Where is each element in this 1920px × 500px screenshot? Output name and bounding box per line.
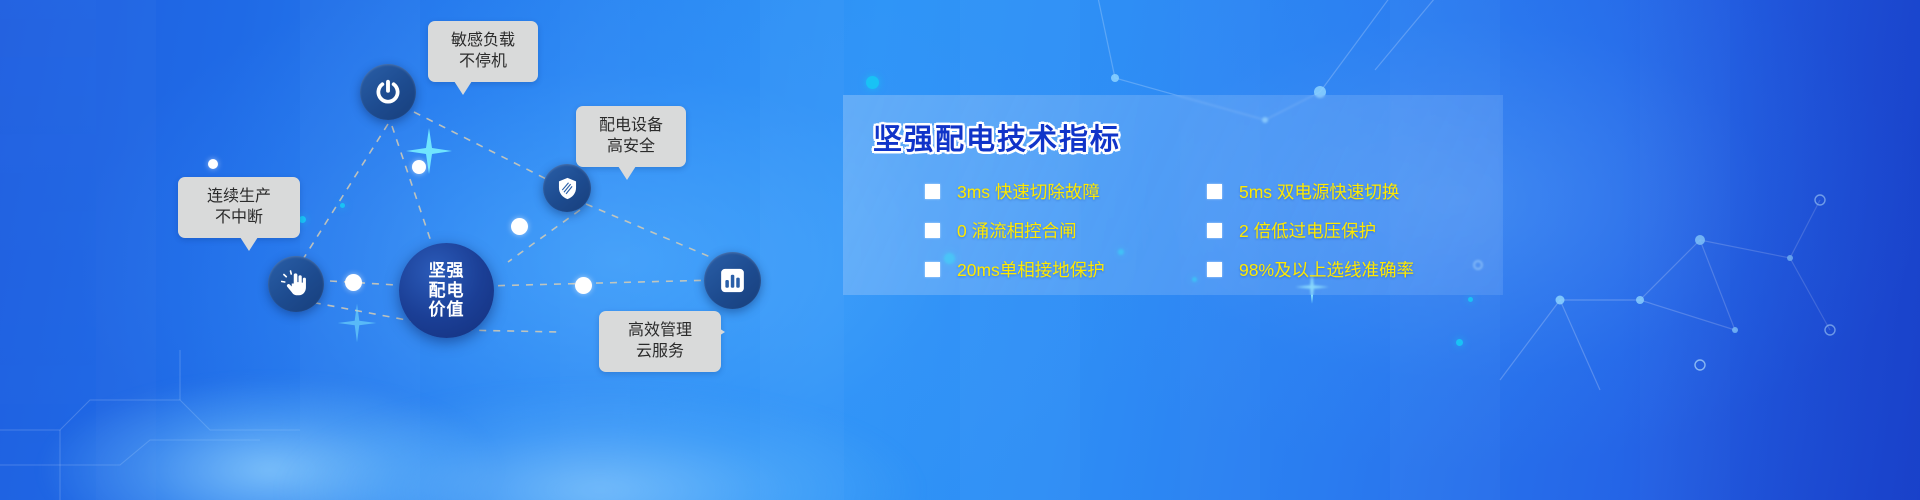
callout-line-2: 高安全 — [590, 136, 672, 157]
bullet-square-icon — [1207, 262, 1222, 277]
callout-tail — [618, 166, 636, 180]
callout-distribution-safety[interactable]: 配电设备 高安全 — [576, 106, 686, 167]
callout-line-2: 云服务 — [613, 341, 707, 362]
banner-root: 坚强 配电 价值 敏感负载 不停机 配电设备 高安全 连续生产 不中断 高效管理… — [0, 0, 1920, 500]
node-dot — [412, 160, 426, 174]
spec-item[interactable]: 3ms 快速切除故障 — [925, 179, 1207, 204]
spec-item[interactable]: 20ms单相接地保护 — [925, 257, 1207, 282]
callout-cloud-service[interactable]: 高效管理 云服务 — [599, 311, 721, 372]
callout-line-2: 不停机 — [442, 51, 524, 72]
bullet-square-icon — [1207, 184, 1222, 199]
callout-line-1: 配电设备 — [590, 115, 672, 136]
shield-icon — [555, 176, 580, 201]
spec-item[interactable]: 5ms 双电源快速切换 — [1207, 179, 1495, 204]
background-dot — [1456, 339, 1463, 346]
spec-label: 20ms单相接地保护 — [957, 257, 1105, 282]
node-hand-pointer[interactable] — [268, 256, 324, 312]
spec-list: 3ms 快速切除故障 5ms 双电源快速切换 0 涌流相控合闸 2 倍低过电压保… — [925, 172, 1495, 289]
spec-label: 5ms 双电源快速切换 — [1239, 179, 1399, 204]
callout-continuous-production[interactable]: 连续生产 不中断 — [178, 177, 300, 238]
node-shield[interactable] — [543, 164, 591, 212]
node-dot — [511, 218, 528, 235]
node-dot — [575, 277, 592, 294]
panel-title: 坚强配电技术指标 — [873, 116, 1121, 158]
spec-label: 3ms 快速切除故障 — [957, 179, 1100, 204]
callout-line-2: 不中断 — [192, 207, 286, 228]
power-icon — [373, 77, 403, 107]
node-dot-accent — [299, 216, 306, 223]
hand-pointer-icon — [281, 269, 311, 299]
node-dot — [345, 274, 362, 291]
node-dot — [208, 159, 218, 169]
center-node-line-2: 配电 — [429, 281, 465, 301]
callout-tail — [454, 81, 472, 95]
node-power[interactable] — [360, 64, 416, 120]
node-dot-accent — [340, 203, 345, 208]
spec-item[interactable]: 0 涌流相控合闸 — [925, 218, 1207, 243]
bullet-square-icon — [1207, 223, 1222, 238]
spec-item[interactable]: 98%及以上选线准确率 — [1207, 257, 1495, 282]
spec-label: 98%及以上选线准确率 — [1239, 257, 1414, 282]
callout-line-1: 连续生产 — [192, 186, 286, 207]
bar-chart-icon — [718, 266, 747, 295]
bullet-square-icon — [925, 262, 940, 277]
right-vignette — [1620, 0, 1920, 500]
background-dot — [1468, 297, 1473, 302]
callout-line-1: 高效管理 — [613, 320, 707, 341]
callout-tail — [240, 237, 258, 251]
bullet-square-icon — [925, 223, 940, 238]
callout-tail — [711, 323, 734, 341]
spec-label: 0 涌流相控合闸 — [957, 218, 1077, 243]
spec-label: 2 倍低过电压保护 — [1239, 218, 1376, 243]
center-node-line-3: 价值 — [429, 300, 465, 320]
bullet-square-icon — [925, 184, 940, 199]
callout-line-1: 敏感负载 — [442, 30, 524, 51]
background-dot — [866, 76, 879, 89]
center-node-line-1: 坚强 — [429, 261, 465, 281]
callout-sensitive-load[interactable]: 敏感负载 不停机 — [428, 21, 538, 82]
node-bar-chart[interactable] — [704, 252, 761, 309]
center-value-node[interactable]: 坚强 配电 价值 — [399, 243, 494, 338]
spec-item[interactable]: 2 倍低过电压保护 — [1207, 218, 1495, 243]
